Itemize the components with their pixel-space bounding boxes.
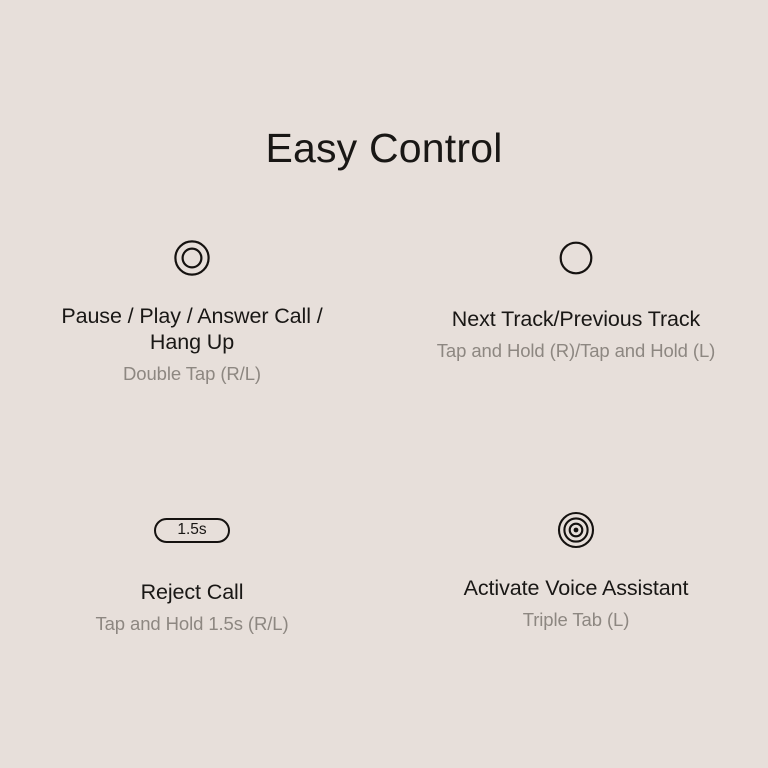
feature-sublabel: Triple Tab (L) [523,608,630,632]
feature-sublabel: Tap and Hold 1.5s (R/L) [95,612,288,636]
feature-grid: Pause / Play / Answer Call / Hang Up Dou… [0,236,768,636]
feature-next-previous-track: Next Track/Previous Track Tap and Hold (… [384,236,768,508]
feature-label: Pause / Play / Answer Call / Hang Up [58,303,326,355]
page-title: Easy Control [0,125,768,172]
feature-sublabel: Double Tap (R/L) [123,362,261,386]
feature-reject-call: 1.5s Reject Call Tap and Hold 1.5s (R/L) [0,508,384,636]
triple-tap-icon [557,508,595,552]
feature-sublabel: Tap and Hold (R)/Tap and Hold (L) [437,339,715,363]
hold-duration-pill-icon: 1.5s [154,508,230,552]
easy-control-page: Easy Control Pause / Play / Answer Call … [0,0,768,768]
single-tap-hold-icon [559,236,593,280]
feature-label: Reject Call [141,579,244,605]
double-tap-icon [173,236,211,280]
feature-label: Next Track/Previous Track [452,306,700,332]
hold-duration-label: 1.5s [154,518,230,543]
feature-label: Activate Voice Assistant [464,575,689,601]
feature-activate-voice-assistant: Activate Voice Assistant Triple Tab (L) [384,508,768,636]
feature-pause-play-answer-call: Pause / Play / Answer Call / Hang Up Dou… [0,236,384,508]
